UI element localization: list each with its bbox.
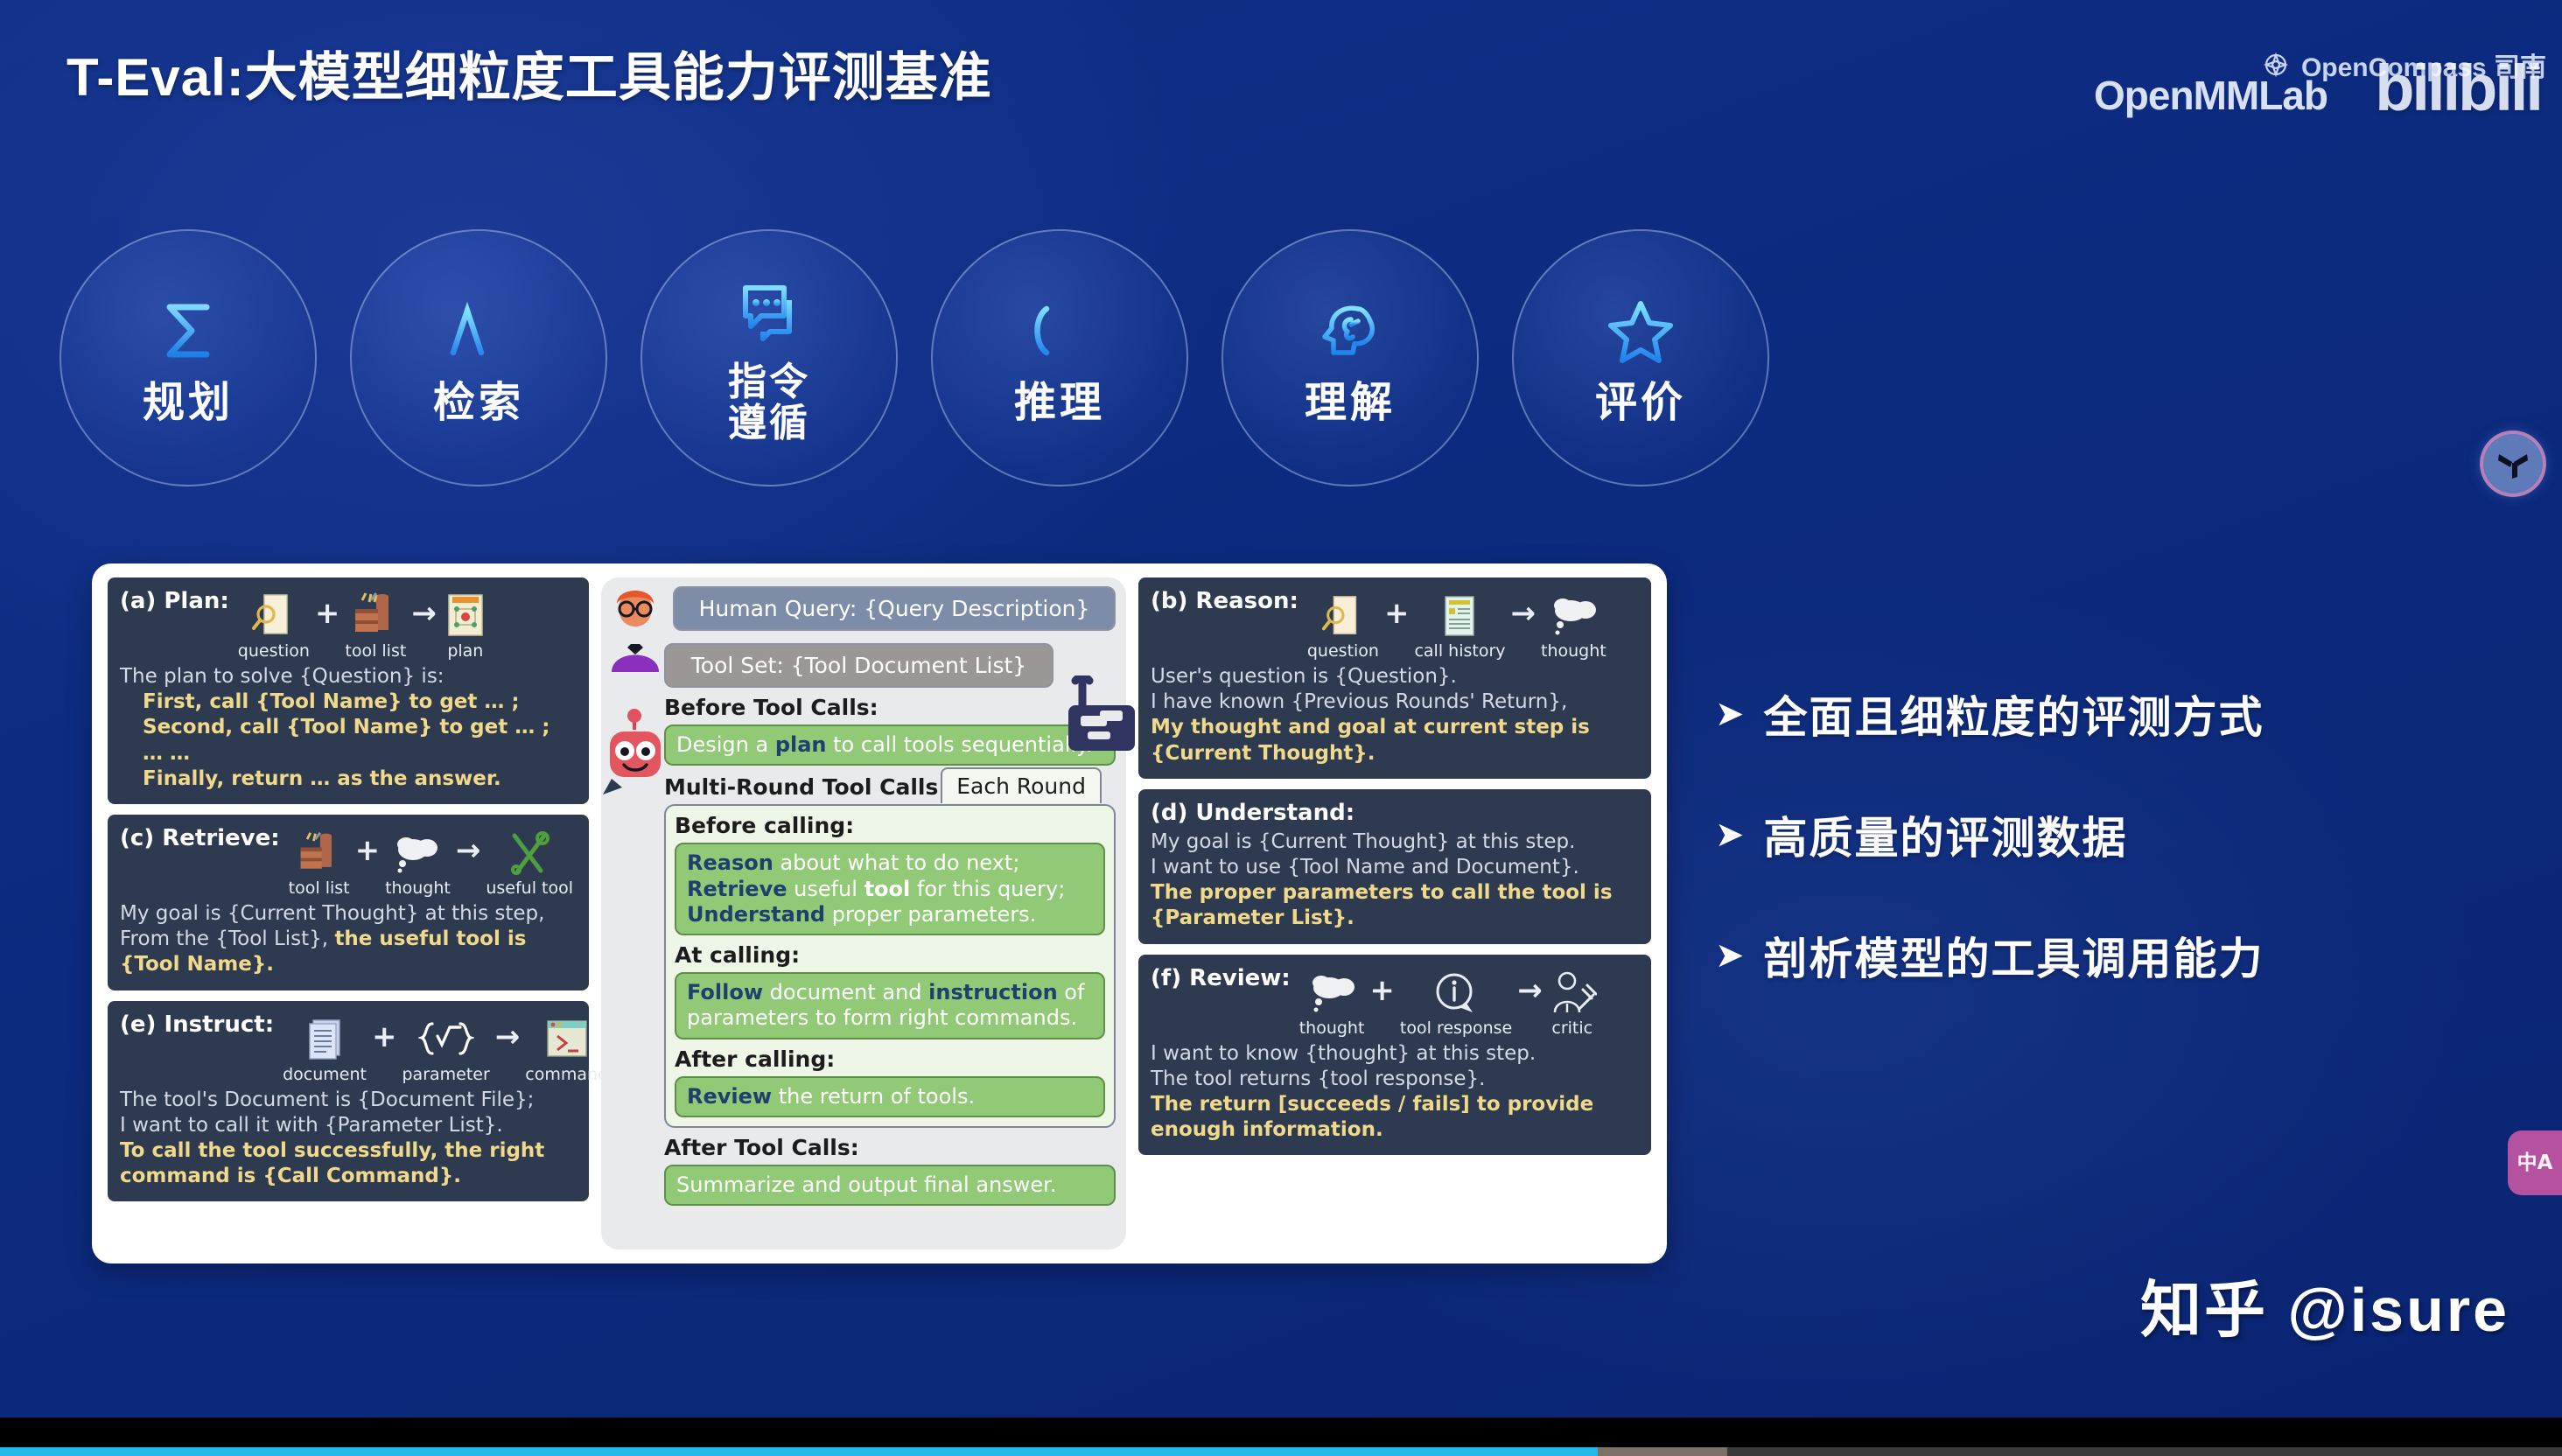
panel-line: First, call {Tool Name} to get … ; [120,689,577,715]
each-round-box: Each Round Before calling: Reason about … [664,804,1116,1128]
thought-cloud-icon [392,825,443,876]
thought-cloud-icon [1306,965,1357,1016]
icon-caption: parameter [402,1065,489,1084]
panel-line: Finally, return … as the answer. [120,766,577,792]
chat-bubbles-icon [731,271,807,352]
capability-circle-retrieve[interactable]: 检索 [350,229,607,486]
chevron-right-icon: ➤ [1715,696,1745,731]
page-title: T-Eval:大模型细粒度工具能力评测基准 [66,35,992,111]
before-tool-calls-box: Design a plan to call tools sequentially… [664,724,1116,766]
before-tool-calls-label: Before Tool Calls: [664,695,1116,720]
panel-review: (f) Review: [1138,955,1651,1156]
thought-cloud-icon [1548,588,1599,639]
toolbox-icon [296,825,343,876]
capability-circle-plan[interactable]: 规划 [59,229,317,486]
icon-callhistory: call history [1414,588,1505,661]
panel-line: My thought and goal at current step is [1151,716,1590,738]
plus-operator: + [1369,965,1395,1016]
panel-understand: (d) Understand: My goal is {Current Thou… [1138,789,1651,944]
icon-caption: critic [1551,1018,1592,1038]
panel-line: enough information. [1151,1118,1383,1141]
icon-caption: tool list [289,878,350,898]
panel-tag: (e) Instruct: [120,1011,274,1038]
keyword-reason: Reason [687,850,773,875]
icon-command: command [525,1011,608,1084]
at-calling-box: Follow document and instruction of param… [675,972,1105,1039]
icon-document: document [283,1011,367,1084]
keyword-tool: tool [864,877,911,901]
panel-line: The proper parameters to call the tool i… [1151,881,1613,904]
toolbox-badge-icon [1061,675,1142,756]
keyword-understand: Understand [687,902,825,927]
panel-body: I want to know {thought} at this step. T… [1151,1041,1639,1144]
capability-label: 理解 [1305,381,1396,426]
capability-circle-instruct[interactable]: 指令遵循 [640,229,898,486]
panel-line-highlight: the useful tool is [334,927,526,950]
keyword-plan: plan [775,732,827,757]
info-speech-icon [1432,965,1480,1016]
icon-question: question [1307,588,1379,661]
icon-caption: thought [1541,641,1606,661]
arrow-operator: → [1511,588,1536,639]
keyword-instruction: instruction [928,980,1058,1004]
panel-line: The return [succeeds / fails] to provide [1151,1093,1593,1116]
icon-caption: question [238,641,310,661]
plus-operator: + [372,1011,397,1062]
each-round-tab: Each Round [941,767,1102,803]
panel-line: I want to use {Tool Name and Document}. [1151,856,1579,878]
panel-line: I want to call it with {Parameter List}. [120,1114,503,1137]
panel-body: My goal is {Current Thought} at this ste… [120,901,577,978]
panel-body: My goal is {Current Thought} at this ste… [1151,829,1639,932]
panel-line: My goal is {Current Thought} at this ste… [1151,830,1575,853]
bullet-text: 全面且细粒度的评测方式 [1764,682,2264,745]
panel-icon-row: thought + [1299,965,1639,1038]
panel-tag: (f) Review: [1151,965,1291,991]
panel-line: Second, call {Tool Name} to get … ; [120,715,577,740]
capability-circle-understand[interactable]: 理解 [1221,229,1479,486]
list-item: ➤ 全面且细粒度的评测方式 [1715,682,2264,745]
panel-line: User's question is {Question}. [1151,665,1457,688]
icon-critic: critic [1548,965,1597,1038]
icon-caption: tool response [1400,1018,1512,1038]
key-points-list: ➤ 全面且细粒度的评测方式 ➤ 高质量的评测数据 ➤ 剖析模型的工具调用能力 [1715,682,2264,1045]
capability-label: 指令遵循 [728,362,810,444]
before-calling-label: Before calling: [675,813,1105,838]
icon-usefultool: useful tool [486,825,573,898]
icon-question: question [238,588,310,661]
panel-reason: (b) Reason: question [1138,577,1651,779]
tri-blade-logo-icon[interactable] [2483,434,2543,493]
question-magnifier-icon [1320,588,1366,639]
agent-flow-card: Human Query: {Query Description} Tool Se… [601,577,1126,1249]
robot-avatar-icon [603,709,668,814]
list-item: ➤ 剖析模型的工具调用能力 [1715,924,2264,987]
framework-diagram: (a) Plan: question [92,563,1667,1263]
after-calling-label: After calling: [675,1046,1105,1072]
head-brain-icon [1312,290,1388,371]
document-stack-icon [303,1011,346,1062]
sigma-icon [150,290,226,371]
diagram-left-column: (a) Plan: question [108,577,589,1249]
arrow-operator: → [1517,965,1543,1016]
diagram-center-column: Human Query: {Query Description} Tool Se… [601,577,1126,1249]
keyword-retrieve: Retrieve [687,877,787,901]
panel-tag: (a) Plan: [120,588,229,614]
capability-circle-review[interactable]: 评价 [1512,229,1769,486]
translate-button[interactable]: 中A [2508,1130,2562,1195]
icon-toollist: tool list [289,825,350,898]
panel-icon-row: tool list + [289,825,577,898]
plus-operator: + [1384,588,1410,639]
list-item: ➤ 高质量的评测数据 [1715,803,2264,866]
bilibili-watermark: bilibili [2375,51,2541,125]
panel-retrieve: (c) Retrieve: [108,815,589,990]
human-query-bubble: Human Query: {Query Description} [673,586,1116,631]
plus-operator: + [355,825,381,876]
panel-line: I have known {Previous Rounds' Return}, [1151,690,1567,713]
icon-thought: thought [1299,965,1365,1038]
capability-circles: 规划 检索 [59,229,1769,486]
panel-body: The plan to solve {Question} is: First, … [120,664,577,792]
capability-circle-reason[interactable]: 推理 [931,229,1188,486]
icon-parameter: parameter [402,1011,489,1084]
panel-line: command is {Call Command}. [120,1165,461,1187]
panel-line: {Current Thought}. [1151,742,1375,765]
wrench-screwdriver-icon [506,825,553,876]
parameter-braces-icon [418,1011,474,1062]
panel-icon-row: question + [1307,588,1639,661]
call-history-doc-icon [1438,588,1481,639]
panel-line: To call the tool successfully, the right [120,1139,544,1162]
plus-operator: + [315,588,340,639]
panel-tag: (b) Reason: [1151,588,1298,614]
panel-line: I want to know {thought} at this step. [1151,1042,1536,1065]
translate-label: 中A [2517,1153,2553,1173]
icon-toolresponse: tool response [1400,965,1512,1038]
slide-canvas: T-Eval:大模型细粒度工具能力评测基准 OpenMMLab OpenComp… [0,0,2562,1417]
icon-caption: call history [1414,641,1505,661]
panel-line: The tool returns {tool response}. [1151,1067,1485,1090]
opencompass-mark-icon [2259,48,2292,81]
arrow-operator: → [411,588,437,639]
after-calling-box: Review the return of tools. [675,1076,1105,1117]
video-player-bar[interactable] [0,1417,2562,1456]
toolbox-icon [350,588,401,639]
panel-icon-row: document + [283,1011,608,1084]
critic-gavel-icon [1548,965,1597,1016]
bullet-text: 高质量的评测数据 [1764,803,2128,866]
icon-caption: question [1307,641,1379,661]
tool-set-bubble: Tool Set: {Tool Document List} [664,643,1053,688]
icon-caption: document [283,1065,367,1084]
progress-track[interactable] [0,1447,2562,1456]
icon-thought: thought [1541,588,1606,661]
icon-plan: plan [442,588,489,661]
icon-toollist: tool list [345,588,406,661]
panel-body: User's question is {Question}. I have kn… [1151,664,1639,766]
arrow-operator: → [495,1011,521,1062]
after-tool-calls-label: After Tool Calls: [664,1135,1116,1160]
after-tool-calls-box: Summarize and output final answer. [664,1165,1116,1206]
icon-caption: thought [385,878,451,898]
icon-caption: command [525,1065,608,1084]
arrow-operator: → [456,825,481,876]
panel-line: {Tool Name}. [120,953,274,976]
icon-caption: plan [447,641,483,661]
star-icon [1603,290,1678,371]
panel-line: From the {Tool List}, [120,927,334,950]
multi-round-section: Multi-Round Tool Calls: Each Round Befor… [664,774,1116,1128]
question-magnifier-icon [250,588,297,639]
progress-played [0,1447,1598,1456]
before-calling-box: Reason about what to do next; Retrieve u… [675,843,1105,935]
terminal-window-icon [543,1011,591,1062]
panel-line: My goal is {Current Thought} at this ste… [120,902,544,925]
keyword-follow: Follow [687,980,763,1004]
capability-label: 评价 [1595,381,1686,426]
capability-label: 规划 [143,381,234,426]
at-calling-label: At calling: [675,942,1105,968]
capability-label: 检索 [433,381,524,426]
text-list-icon [441,290,516,371]
panel-line: The tool's Document is {Document File}; [120,1088,534,1111]
panel-line: The plan to solve {Question} is: [120,665,444,688]
icon-caption: thought [1299,1018,1365,1038]
panel-icon-row: question + [238,588,577,661]
plan-note-icon [442,588,489,639]
icon-caption: useful tool [486,878,573,898]
chevron-right-icon: ➤ [1715,938,1745,973]
panel-body: The tool's Document is {Document File}; … [120,1088,577,1190]
bullet-text: 剖析模型的工具调用能力 [1764,924,2264,987]
panel-line: … … [120,741,577,766]
panel-instruct: (e) Instruct: [108,1001,589,1202]
chevron-right-icon: ➤ [1715,817,1745,852]
diagram-right-column: (b) Reason: question [1138,577,1651,1249]
panel-line: {Parameter List}. [1151,906,1354,929]
panel-tag: (c) Retrieve: [120,825,280,851]
bracket-list-icon [1022,290,1097,371]
zhihu-watermark: 知乎 @isure [2140,1261,2509,1349]
human-avatar-icon [606,581,664,675]
capability-label: 推理 [1014,381,1105,426]
panel-plan: (a) Plan: question [108,577,589,804]
keyword-review: Review [687,1084,772,1109]
panel-tag: (d) Understand: [1151,800,1639,826]
icon-caption: tool list [345,641,406,661]
icon-thought: thought [385,825,451,898]
